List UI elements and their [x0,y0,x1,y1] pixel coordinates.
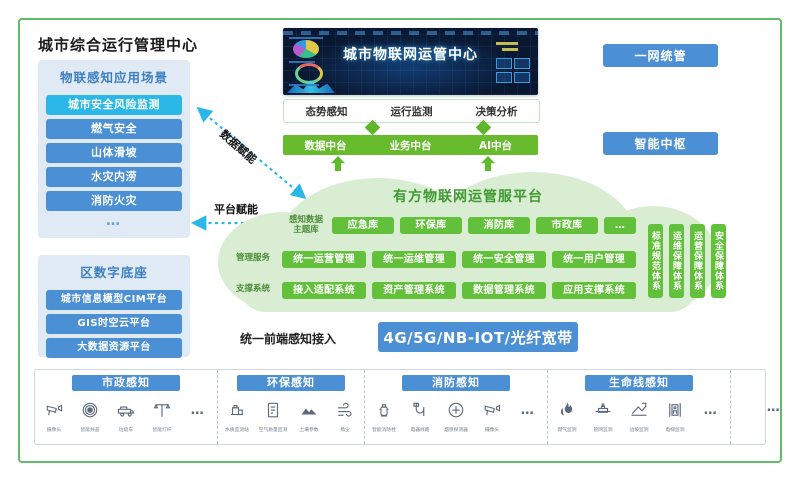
unified-access-label: 统一前端感知接入 [218,330,358,347]
network-access-box[interactable]: 4G/5G/NB-IOT/光纤宽带 [378,322,578,352]
system-data-management[interactable]: 数据管理系统 [462,282,546,299]
sensing-item-more[interactable]: … [696,397,726,433]
sensing-item-label: 摄像头 [478,426,507,433]
sensing-item[interactable]: 电梯监测 [660,397,690,433]
service-unified-user[interactable]: 统一用户管理 [552,251,636,268]
theme-db-fire[interactable]: 消防库 [468,217,530,234]
sensing-item[interactable]: 智能井盖 [75,397,105,433]
sensing-item-label: 智能灯杆 [148,426,177,433]
sensing-item[interactable]: 扬尘 [330,397,360,433]
scene-item-flood[interactable]: 水灾内涝 [46,167,182,187]
service-unified-maintenance[interactable]: 统一运维管理 [372,251,456,268]
bar-standard-specification[interactable]: 标准规范体系 [648,224,663,298]
scene-more-dots: … [38,215,190,231]
dashboard-title: 城市物联网运管中心 [283,44,538,64]
camera-icon [477,397,507,423]
theme-db-environment[interactable]: 环保库 [400,217,462,234]
row-label-support-system: 支撑系统 [229,285,277,295]
sensing-item[interactable]: 燃气监测 [552,397,582,433]
diagram-canvas: 城市综合运行管理中心 物联感知应用场景 城市安全风险监测 燃气安全 山体滑坡 水… [0,0,800,481]
row-label-theme-db: 感知数据 主题库 [287,216,325,236]
dashboard-kpi-box [514,72,530,83]
soil-icon [294,397,324,423]
theme-db-emergency[interactable]: 应急库 [332,217,394,234]
capability-operation-monitoring[interactable]: 运行监测 [369,104,454,119]
sensing-item[interactable]: 管网监测 [588,397,618,433]
sensing-item-more[interactable]: … [513,397,543,433]
sensing-item[interactable]: 空气质量监测 [258,397,288,433]
sensing-panel-municipal: 市政感知 摄像头 智能井盖 [35,370,217,444]
sensing-item-label: 烟感探测器 [442,426,471,433]
sensing-item-label: 垃圾车 [112,426,141,433]
sensing-panel-lifeline: 生命线感知 燃气监测 管网监测 [547,370,730,444]
sensing-panel-fire: 消防感知 智能消防栓 电器线路 [364,370,547,444]
pipeline-icon [588,397,618,423]
gas-flame-icon [552,397,582,423]
bar-maintenance-guarantee[interactable]: 运维保障体系 [669,224,684,298]
dashboard-text-line [289,37,323,39]
scene-item-landslide[interactable]: 山体滑坡 [46,143,182,163]
middle-platform-band: 数据中台 业务中台 AI中台 [283,135,538,155]
smoke-detector-icon [441,397,471,423]
scene-item-gas-safety[interactable]: 燃气安全 [46,119,182,139]
service-unified-security[interactable]: 统一安全管理 [462,251,546,268]
cloud-title: 有方物联网运管服平台 [218,186,718,206]
sensing-panel-title: 生命线感知 [585,375,693,391]
camera-icon [39,397,69,423]
slope-icon [624,397,654,423]
scene-item-urban-risk[interactable]: 城市安全风险监测 [46,95,182,115]
sensing-item[interactable]: 摄像头 [39,397,69,433]
sensing-panel-title: 环保感知 [237,375,345,391]
sensing-item[interactable]: 烟感探测器 [441,397,471,433]
more-dots-icon: … [696,397,726,423]
sensing-item-label: 土壤参数 [295,426,324,433]
sensing-item[interactable]: 边坡监测 [624,397,654,433]
bar-security-guarantee[interactable]: 安全保障体系 [711,224,726,298]
tag-one-network-governance[interactable]: 一网统管 [603,44,718,67]
hydrant-icon [369,397,399,423]
sensing-item-label: 电梯监测 [661,426,690,433]
garbage-truck-icon [111,397,141,423]
sensing-item-label: 电器线路 [406,426,435,433]
sensing-item[interactable]: 智能灯杆 [147,397,177,433]
smart-lamp-icon [147,397,177,423]
theme-db-more[interactable]: … [604,217,636,234]
sensing-item-label: 摄像头 [40,426,69,433]
base-item-gis[interactable]: GIS时空云平台 [46,314,182,334]
sensing-panel-more[interactable]: … [730,370,800,444]
circuit-icon [405,397,435,423]
iot-scene-panel: 物联感知应用场景 城市安全风险监测 燃气安全 山体滑坡 水灾内涝 消防火灾 … [38,60,190,238]
theme-db-municipal[interactable]: 市政库 [536,217,598,234]
dashboard-ring-chart [295,63,323,84]
sensing-item-label: 管网监测 [589,426,618,433]
sensing-item[interactable]: 土壤参数 [294,397,324,433]
sensing-item-label: 智能井盖 [76,426,105,433]
dashboard-text-line [289,84,319,86]
bar-operation-guarantee[interactable]: 运营保障体系 [690,224,705,298]
platform-business-middle-office[interactable]: 业务中台 [368,138,453,153]
system-app-support[interactable]: 应用支撑系统 [552,282,636,299]
base-item-bigdata[interactable]: 大数据资源平台 [46,338,182,358]
scene-item-fire[interactable]: 消防火灾 [46,191,182,211]
sensing-panel-title: 市政感知 [72,375,180,391]
capability-strip: 态势感知 运行监测 决策分析 [283,99,540,123]
sensing-item[interactable]: 摄像头 [477,397,507,433]
water-quality-icon [222,397,252,423]
sensing-item[interactable]: 智能消防栓 [369,397,399,433]
system-access-adapter[interactable]: 接入适配系统 [282,282,366,299]
sensing-strip: 市政感知 摄像头 智能井盖 [34,369,766,445]
system-asset-management[interactable]: 资产管理系统 [372,282,456,299]
sensing-item[interactable]: 水质监测站 [222,397,252,433]
more-dots-icon: … [513,397,543,423]
sensing-panel-environment: 环保感知 水质监测站 空气质量监测 [217,370,364,444]
digital-base-panel-title: 区数字底座 [38,255,190,286]
tag-intelligent-hub[interactable]: 智能中枢 [603,132,718,155]
sensing-item-label: 水质监测站 [223,426,252,433]
sensing-item-label: 边坡监测 [625,426,654,433]
dashboard-kpi-box [496,72,512,83]
sensing-item[interactable]: 电器线路 [405,397,435,433]
sensing-item-more[interactable]: … [183,397,213,433]
sensing-item-label: 燃气监测 [553,426,582,433]
more-dots-icon: … [183,397,213,423]
dust-icon [330,397,360,423]
digital-base-panel: 区数字底座 城市信息模型CIM平台 GIS时空云平台 大数据资源平台 [38,255,190,357]
page-title: 城市综合运行管理中心 [38,34,198,55]
platform-ai-middle-office[interactable]: AI中台 [453,138,538,153]
smart-manhole-icon [75,397,105,423]
capability-decision-analysis[interactable]: 决策分析 [454,104,539,119]
sensing-item-label: 扬尘 [331,426,360,433]
elevator-icon [660,397,690,423]
dashboard-topbar [283,31,538,35]
sensing-item-label: 空气质量监测 [259,426,288,433]
sensing-panel-title: 消防感知 [402,375,510,391]
sensing-item-label: 智能消防栓 [370,426,399,433]
sensing-item[interactable]: 垃圾车 [111,397,141,433]
platform-data-middle-office[interactable]: 数据中台 [283,138,368,153]
iot-scene-panel-title: 物联感知应用场景 [38,60,190,91]
capability-situation-awareness[interactable]: 态势感知 [284,104,369,119]
base-item-cim[interactable]: 城市信息模型CIM平台 [46,290,182,310]
air-quality-icon [258,397,288,423]
operations-dashboard-image: 城市物联网运管中心 [283,28,538,95]
service-unified-operation[interactable]: 统一运营管理 [282,251,366,268]
row-label-management-service: 管理服务 [229,254,277,264]
